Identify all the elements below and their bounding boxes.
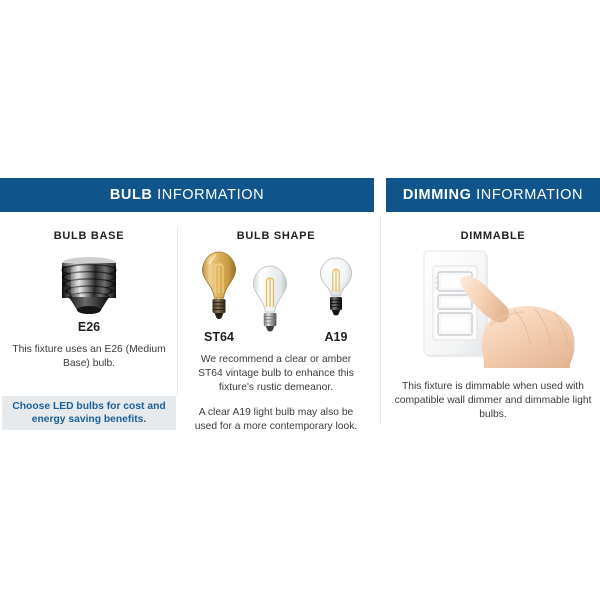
bulb-information-body: BULB BASE [0, 212, 374, 430]
bulb-base-description: This fixture uses an E26 (Medium Base) b… [0, 343, 178, 371]
dimmable-description: This fixture is dimmable when used with … [386, 380, 600, 422]
info-graphic-page: BULB INFORMATION BULB BASE [0, 0, 600, 600]
dimming-information-header-bold: DIMMING [403, 187, 472, 203]
hand-pressing-dimmer-switch-icon [410, 248, 576, 368]
e26-screw-base-icon [51, 256, 127, 316]
dimming-information-header-text: DIMMING INFORMATION [403, 188, 583, 203]
bulb-shape-image-row: ST64 [178, 250, 374, 344]
bulb-base-label: E26 [0, 320, 178, 334]
bulb-shape-item: ST64 [196, 250, 242, 344]
bulb-base-image [0, 254, 178, 316]
bulb-base-title: BULB BASE [0, 230, 178, 242]
bulb-information-header-text: BULB INFORMATION [110, 188, 264, 203]
bulb-base-column: BULB BASE [0, 212, 178, 430]
dimming-information-panel: DIMMING INFORMATION DIMMABLE [386, 178, 600, 430]
bulb-shape-column: BULB SHAPE [178, 212, 374, 430]
bulb-information-header-rest: INFORMATION [153, 187, 265, 203]
bulb-shape-label: ST64 [196, 330, 242, 344]
bulb-information-panel: BULB INFORMATION BULB BASE [0, 178, 374, 430]
dimmer-switch-image [386, 248, 600, 368]
vertical-divider [380, 216, 381, 424]
bulb-information-header: BULB INFORMATION [0, 178, 374, 212]
bulb-shape-item: A19 [316, 256, 356, 344]
bulb-shape-title: BULB SHAPE [178, 230, 374, 242]
led-tip-callout: Choose LED bulbs for cost and energy sav… [2, 396, 176, 430]
bulb-information-header-bold: BULB [110, 187, 153, 203]
amber-st64-bulb-icon [196, 250, 242, 322]
bulb-shape-item [248, 264, 292, 344]
dimming-information-header: DIMMING INFORMATION [386, 178, 600, 212]
info-band: BULB INFORMATION BULB BASE [0, 178, 600, 430]
bulb-shape-label: A19 [316, 330, 356, 344]
dimmable-title: DIMMABLE [386, 230, 600, 242]
led-tip-text: Choose LED bulbs for cost and energy sav… [2, 400, 176, 426]
clear-st64-bulb-icon [248, 264, 292, 336]
bulb-shape-paragraph-2: A clear A19 light bulb may also be used … [178, 406, 374, 434]
bulb-shape-paragraph-1: We recommend a clear or amber ST64 vinta… [178, 353, 374, 395]
clear-a19-bulb-icon [316, 256, 356, 322]
panel-separator [374, 178, 386, 430]
dimming-information-header-rest: INFORMATION [471, 187, 583, 203]
